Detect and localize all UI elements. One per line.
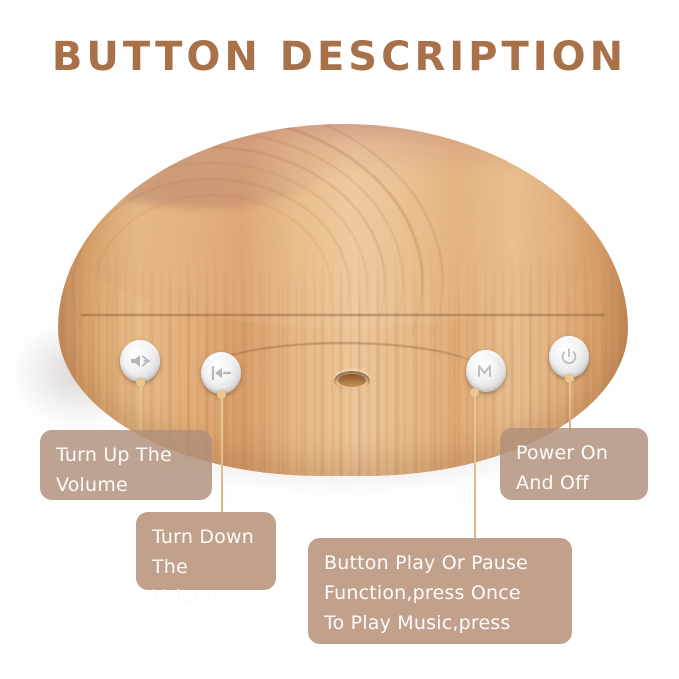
leader-line-volume-down	[221, 395, 223, 515]
leader-line-power	[569, 379, 571, 431]
leader-line-volume-up	[140, 383, 142, 433]
mode-m-icon	[475, 362, 497, 380]
leader-line-play	[474, 393, 476, 541]
callout-volume-down: Turn Down The Volume	[136, 512, 276, 590]
callout-power: Power On And Off	[500, 428, 648, 500]
mist-outlet-inner	[338, 374, 366, 387]
power-icon	[559, 347, 579, 367]
play-pause-button[interactable]	[466, 350, 506, 392]
power-button[interactable]	[549, 336, 589, 378]
diffuser-body	[58, 124, 628, 476]
volume-up-icon	[129, 352, 151, 370]
product-annotation-image: BUTTON DESCRIPTION	[0, 0, 679, 679]
mist-outlet	[334, 371, 370, 391]
callout-play-pause: Button Play Or Pause Function,press Once…	[308, 538, 572, 644]
volume-down-button[interactable]	[201, 352, 241, 394]
volume-up-button[interactable]	[120, 340, 160, 382]
volume-down-icon	[210, 364, 232, 382]
callout-volume-up: Turn Up The Volume	[40, 430, 212, 500]
